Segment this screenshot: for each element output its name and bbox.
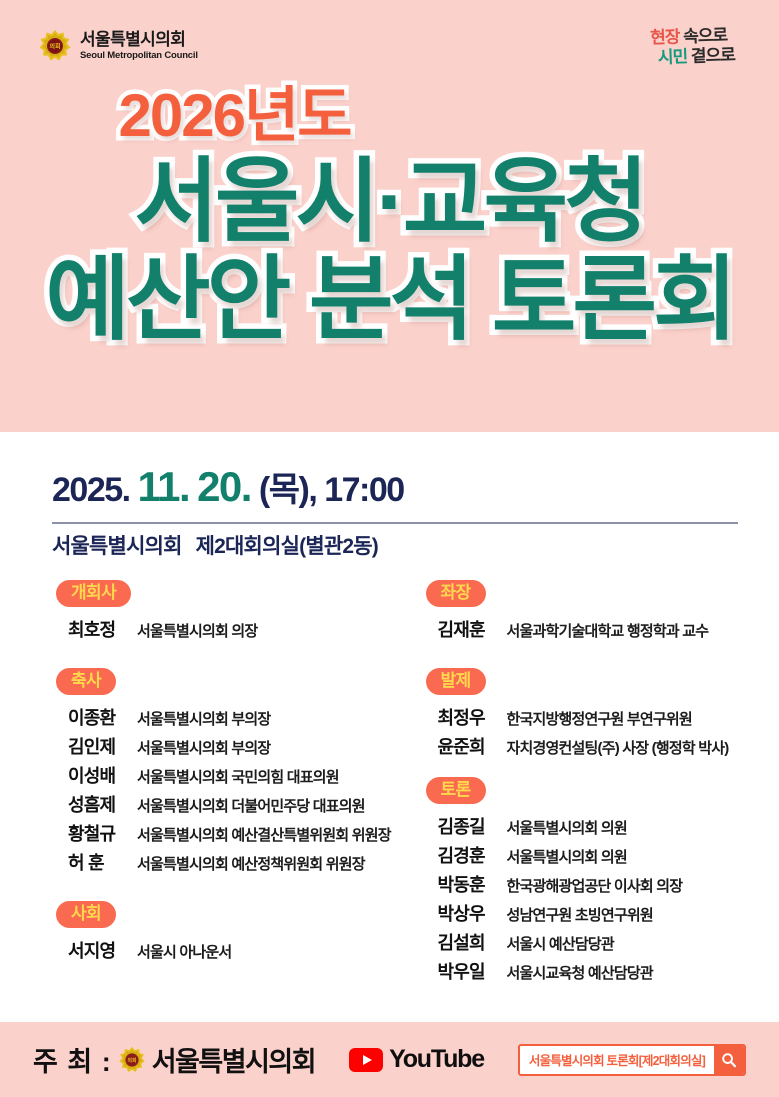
venue-org: 서울특별시의회 <box>52 535 182 558</box>
person-name: 윤준희 <box>438 733 500 759</box>
person-title: 한국지방행정연구원 부연구위원 <box>507 708 692 729</box>
person-title: 서울과학기술대학교 행정학과 교수 <box>507 620 709 641</box>
badge-host: 사회 <box>56 901 116 928</box>
list-item: 박상우 성남연구원 초빙연구위원 <box>438 900 779 926</box>
youtube-search-box[interactable]: 서울특별시의회 토론회[제2대회의실] <box>518 1044 746 1076</box>
person-name: 성흠제 <box>68 791 130 817</box>
person-name: 황철규 <box>68 820 130 846</box>
slogan-line2-part2: 곁으로 <box>691 45 736 66</box>
org-name-en: Seoul Metropolitan Council <box>80 51 198 61</box>
list-item: 김재훈 서울과학기술대학교 행정학과 교수 <box>438 616 779 642</box>
date-weekday-time: (목), 17:00 <box>259 471 404 509</box>
svg-text:의회: 의회 <box>49 43 60 51</box>
person-name: 박우일 <box>438 958 500 984</box>
person-name: 박동훈 <box>438 871 500 897</box>
list-item: 김설희 서울시 예산담당관 <box>438 929 779 955</box>
people-list-congratulation: 이종환 서울특별시의회 부의장 김인제 서울특별시의회 부의장 이성배 서울특별… <box>56 704 390 875</box>
slogan: 현장 속으로 시민 곁으로 <box>624 26 753 68</box>
people-list-chair: 김재훈 서울과학기술대학교 행정학과 교수 <box>426 616 779 642</box>
program-section-congratulation: 축사 이종환 서울특별시의회 부의장 김인제 서울특별시의회 부의장 이성배 서… <box>56 668 390 875</box>
people-list-opening: 최호정 서울특별시의회 의장 <box>56 616 390 642</box>
list-item: 최호정 서울특별시의회 의장 <box>68 616 390 642</box>
person-name: 김경훈 <box>438 842 500 868</box>
person-name: 최정우 <box>438 704 500 730</box>
person-title: 서울시교육청 예산담당관 <box>507 962 653 983</box>
program-section-presentation: 발제 최정우 한국지방행정연구원 부연구위원 윤준희 자치경영컨설팅(주) 사장… <box>426 668 779 759</box>
host-name: 서울특별시의회 <box>152 1040 315 1079</box>
youtube-play-icon <box>349 1048 383 1072</box>
list-item: 김경훈 서울특별시의회 의원 <box>438 842 779 868</box>
footer-band: 주 최 : 의회 서울특별시의회 YouTube 서울특별시의회 토론회[제2대… <box>0 1022 779 1097</box>
badge-congratulation: 축사 <box>56 668 116 695</box>
person-name: 이성배 <box>68 762 130 788</box>
person-name: 김설희 <box>438 929 500 955</box>
list-item: 허 훈 서울특별시의회 예산정책위원회 위원장 <box>68 849 390 875</box>
program-column-left: 개회사 최호정 서울특별시의회 의장 축사 이종환 서울특별시의회 부의장 <box>0 580 390 988</box>
search-button[interactable] <box>714 1046 744 1074</box>
poster-root: 의회 서울특별시의회 Seoul Metropolitan Council 현장… <box>0 0 779 1097</box>
badge-opening: 개회사 <box>56 580 131 607</box>
person-title: 서울특별시의회 국민의힘 대표의원 <box>137 766 339 787</box>
brand-lockup: 의회 서울특별시의회 Seoul Metropolitan Council <box>38 29 198 63</box>
seoul-council-emblem-icon: 의회 <box>38 29 72 63</box>
person-title: 서울시 아나운서 <box>137 941 231 962</box>
person-name: 김인제 <box>68 733 130 759</box>
seoul-council-emblem-icon: 의회 <box>118 1046 146 1074</box>
person-title: 서울특별시의회 부의장 <box>137 737 270 758</box>
person-title: 서울특별시의회 의원 <box>507 817 627 838</box>
date-month: 11. <box>138 463 190 510</box>
list-item: 이성배 서울특별시의회 국민의힘 대표의원 <box>68 762 390 788</box>
divider-rule <box>52 522 738 524</box>
list-item: 최정우 한국지방행정연구원 부연구위원 <box>438 704 779 730</box>
person-name: 서지영 <box>68 937 130 963</box>
list-item: 박우일 서울시교육청 예산담당관 <box>438 958 779 984</box>
org-name-ko: 서울특별시의회 <box>80 31 198 48</box>
person-title: 성남연구원 초빙연구위원 <box>507 904 653 925</box>
person-title: 서울시 예산담당관 <box>507 933 614 954</box>
person-title: 서울특별시의회 더불어민주당 대표의원 <box>137 795 365 816</box>
list-item: 김인제 서울특별시의회 부의장 <box>68 733 390 759</box>
poster-title: 2026년도 서울시·교육청 예산안 분석 토론회 <box>0 86 779 346</box>
search-icon <box>721 1052 737 1068</box>
person-title: 서울특별시의회 예산정책위원회 위원장 <box>137 853 365 874</box>
slogan-line2-part1: 시민 <box>658 47 688 67</box>
person-title: 서울특별시의회 의장 <box>137 620 257 641</box>
person-name: 허 훈 <box>68 849 130 875</box>
people-list-discussion: 김종길 서울특별시의회 의원 김경훈 서울특별시의회 의원 박동훈 한국광해광업… <box>426 813 779 984</box>
list-item: 서지영 서울시 아나운서 <box>68 937 390 963</box>
title-line-3: 예산안 분석 토론회 <box>45 254 733 346</box>
youtube-wordmark: YouTube <box>389 1045 484 1074</box>
list-item: 김종길 서울특별시의회 의원 <box>438 813 779 839</box>
title-line-2: 서울시·교육청 <box>134 156 644 248</box>
host-label: 주 최 : <box>33 1040 112 1079</box>
slogan-line1-part1: 현장 <box>650 27 680 47</box>
person-title: 서울특별시의회 부의장 <box>137 708 270 729</box>
program-section-host: 사회 서지영 서울시 아나운서 <box>56 901 390 963</box>
list-item: 성흠제 서울특별시의회 더불어민주당 대표의원 <box>68 791 390 817</box>
event-venue: 서울특별시의회제2대회의실(별관2동) <box>52 530 378 560</box>
badge-presentation: 발제 <box>426 668 486 695</box>
badge-discussion: 토론 <box>426 777 486 804</box>
program-section-chair: 좌장 김재훈 서울과학기술대학교 행정학과 교수 <box>426 580 779 642</box>
badge-chair: 좌장 <box>426 580 486 607</box>
people-list-presentation: 최정우 한국지방행정연구원 부연구위원 윤준희 자치경영컨설팅(주) 사장 (행… <box>426 704 779 759</box>
event-datetime: 2025. 11. 20. (목), 17:00 <box>52 462 404 511</box>
person-name: 박상우 <box>438 900 500 926</box>
host-lockup: 주 최 : 의회 서울특별시의회 <box>33 1040 315 1079</box>
list-item: 황철규 서울특별시의회 예산결산특별위원회 위원장 <box>68 820 390 846</box>
person-title: 서울특별시의회 예산결산특별위원회 위원장 <box>137 824 391 845</box>
youtube-lockup[interactable]: YouTube <box>349 1045 484 1074</box>
person-title: 한국광해광업공단 이사회 의장 <box>507 875 683 896</box>
person-name: 김재훈 <box>438 616 500 642</box>
search-input[interactable]: 서울특별시의회 토론회[제2대회의실] <box>520 1046 714 1074</box>
date-year: 2025. <box>52 471 130 509</box>
program-columns: 개회사 최호정 서울특별시의회 의장 축사 이종환 서울특별시의회 부의장 <box>0 580 779 988</box>
slogan-line1-part2: 속으로 <box>683 26 728 47</box>
date-day: 20. <box>197 463 251 510</box>
program-column-right: 좌장 김재훈 서울과학기술대학교 행정학과 교수 발제 최정우 한국지방행정연구… <box>390 580 779 988</box>
person-title: 자치경영컨설팅(주) 사장 (행정학 박사) <box>507 737 729 758</box>
person-name: 이종환 <box>68 704 130 730</box>
people-list-host: 서지영 서울시 아나운서 <box>56 937 390 963</box>
list-item: 박동훈 한국광해광업공단 이사회 의장 <box>438 871 779 897</box>
venue-room: 제2대회의실(별관2동) <box>196 535 378 558</box>
person-name: 김종길 <box>438 813 500 839</box>
person-title: 서울특별시의회 의원 <box>507 846 627 867</box>
program-section-opening: 개회사 최호정 서울특별시의회 의장 <box>56 580 390 642</box>
list-item: 이종환 서울특별시의회 부의장 <box>68 704 390 730</box>
title-year: 2026년도 <box>119 86 351 146</box>
program-section-discussion: 토론 김종길 서울특별시의회 의원 김경훈 서울특별시의회 의원 박동훈 한국광… <box>426 777 779 984</box>
person-name: 최호정 <box>68 616 130 642</box>
list-item: 윤준희 자치경영컨설팅(주) 사장 (행정학 박사) <box>438 733 779 759</box>
